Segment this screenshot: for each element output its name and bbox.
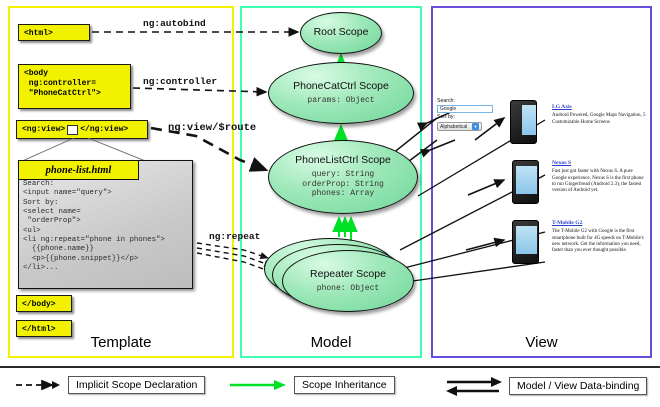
phone-snippet: Fast just got faster with Nexus S. A pur… [552, 169, 648, 195]
search-input[interactable]: Google [437, 105, 493, 113]
legend-item-implicit-scope: Implicit Scope Declaration [14, 376, 205, 394]
phone-list-template-card: phone-list.html Search: <input name="que… [18, 160, 193, 289]
column-label-template: Template [8, 334, 234, 351]
sort-label: Sort by: [437, 114, 499, 121]
legend-label-data-binding: Model / View Data-binding [509, 377, 647, 395]
html-open-tag: <html> [18, 24, 90, 41]
label-ng-view-route: ng:view/$route [168, 122, 256, 134]
ngview-close-label: </ng:view> [80, 125, 128, 135]
label-ng-autobind: ng:autobind [143, 18, 206, 29]
phone-thumbnail-t-mobile-g2 [512, 220, 539, 264]
sort-select-value: Alphabetical [440, 124, 467, 130]
scope-root: Root Scope [300, 12, 382, 54]
phone-list-item: Nexus S Fast just got faster with Nexus … [552, 160, 648, 195]
label-ng-repeat: ng:repeat [209, 231, 260, 242]
scope-phonecatctrl-title: PhoneCatCtrl Scope [293, 81, 389, 93]
legend-item-data-binding: Model / View Data-binding [443, 376, 647, 396]
column-label-model: Model [240, 334, 422, 351]
legend-item-scope-inheritance: Scope Inheritance [228, 376, 395, 394]
legend: Implicit Scope Declaration Scope Inherit… [0, 366, 660, 407]
ngview-open-label: <ng:view> [22, 125, 65, 135]
chevron-down-icon: ▼ [472, 123, 479, 130]
phone-name-link[interactable]: T-Mobile G2 [552, 220, 648, 227]
ngview-tag: <ng:view> </ng:view> [16, 120, 148, 139]
search-label: Search: [437, 98, 499, 105]
ngview-slot-placeholder [67, 125, 78, 135]
double-arrow-icon [443, 376, 503, 396]
scope-root-title: Root Scope [314, 27, 369, 39]
phone-snippet: The T-Mobile G2 with Google is the first… [552, 229, 648, 255]
label-ng-controller: ng:controller [143, 76, 217, 87]
body-open-tag: <body ng:controller= "PhoneCatCtrl"> [18, 64, 131, 109]
dashed-arrow-icon [14, 379, 62, 391]
phone-thumbnail-nexus-s [512, 160, 539, 204]
view-search-form: Search: Google Sort by: Alphabetical ▼ [437, 98, 499, 144]
phone-name-link[interactable]: Nexus S [552, 160, 648, 167]
legend-label-scope-inheritance: Scope Inheritance [294, 376, 395, 394]
column-label-view: View [431, 334, 652, 351]
phone-list-item: LG Axis Android Powered, Google Maps Nav… [552, 104, 648, 126]
body-close-tag: </body> [16, 295, 72, 312]
template-card-leader [16, 138, 166, 162]
phone-list-template-title: phone-list.html [19, 161, 139, 180]
scope-phonelistctrl-title: PhoneListCtrl Scope [295, 155, 391, 167]
phone-name-link[interactable]: LG Axis [552, 104, 648, 111]
sort-select[interactable]: Alphabetical ▼ [437, 122, 482, 131]
scope-phonecatctrl: PhoneCatCtrl Scope params: Object [268, 62, 414, 124]
phone-list-template-code: Search: <input name="query"> Sort by: <s… [23, 180, 188, 286]
scope-repeater-title: Repeater Scope [310, 269, 386, 281]
phone-thumbnail-lg-axis [510, 100, 537, 144]
scope-repeater-props: phone: Object [317, 284, 379, 294]
phone-snippet: Android Powered, Google Maps Navigation,… [552, 113, 648, 126]
phone-list-item: T-Mobile G2 The T-Mobile G2 with Google … [552, 220, 648, 255]
scope-repeater: Repeater Scope phone: Object [282, 250, 414, 312]
scope-phonelistctrl-props: query: String orderProp: String phones: … [302, 170, 384, 199]
diagram-canvas: <html> <body ng:controller= "PhoneCatCtr… [0, 0, 660, 405]
green-arrow-icon [228, 379, 288, 391]
legend-label-implicit-scope: Implicit Scope Declaration [68, 376, 205, 394]
scope-phonelistctrl: PhoneListCtrl Scope query: String orderP… [268, 140, 418, 214]
scope-phonecatctrl-props: params: Object [307, 96, 374, 106]
